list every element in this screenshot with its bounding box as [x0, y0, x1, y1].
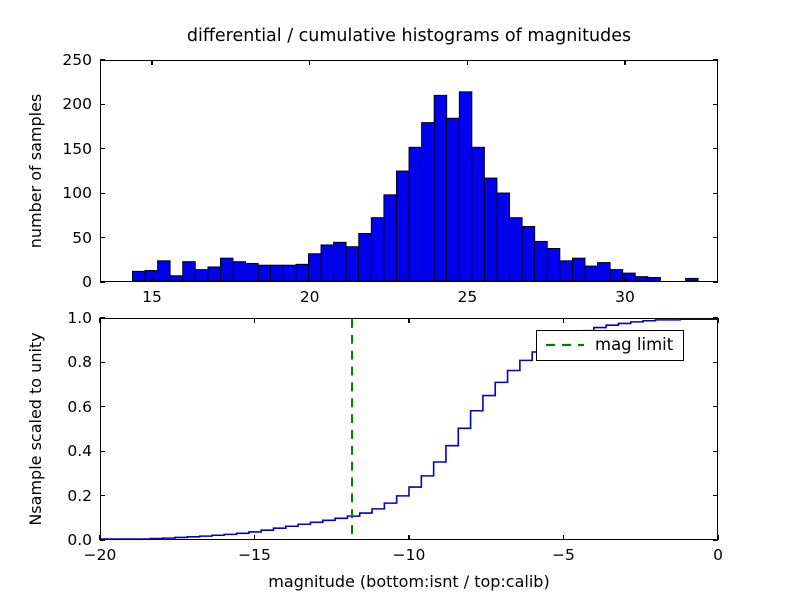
- y-tick-label: 150: [38, 140, 92, 158]
- y-tick-mark: [713, 104, 718, 105]
- histogram-bar: [447, 118, 460, 281]
- x-tick-label: 25: [457, 288, 477, 306]
- x-tick-mark: [151, 60, 152, 65]
- bottom-y-axis-label: Nsample scaled to unity: [26, 332, 45, 525]
- y-tick-label: 0.6: [38, 398, 92, 416]
- y-tick-label: 0.4: [38, 442, 92, 460]
- histogram-bar: [535, 241, 548, 281]
- y-tick-label: 0.0: [38, 531, 92, 549]
- histogram-bar: [434, 95, 447, 281]
- y-tick-mark: [100, 237, 105, 238]
- y-tick-mark: [100, 406, 105, 407]
- y-tick-mark: [713, 451, 718, 452]
- y-tick-mark: [100, 451, 105, 452]
- x-tick-label: −5: [552, 546, 575, 564]
- y-tick-label: 0.8: [38, 353, 92, 371]
- histogram-bar: [132, 271, 145, 281]
- histogram-bar: [648, 277, 661, 281]
- histogram-bar: [183, 262, 196, 281]
- histogram-bar: [283, 265, 296, 281]
- histogram-bar: [598, 263, 611, 281]
- y-tick-mark: [713, 317, 718, 318]
- y-tick-mark: [713, 237, 718, 238]
- y-tick-mark: [713, 59, 718, 60]
- y-tick-mark: [713, 281, 718, 282]
- histogram-bar: [308, 254, 321, 281]
- x-tick-mark: [467, 277, 468, 282]
- x-tick-label: −10: [393, 546, 426, 564]
- y-tick-mark: [713, 406, 718, 407]
- y-tick-mark: [713, 495, 718, 496]
- histogram-bar: [610, 270, 623, 281]
- y-tick-label: 0.2: [38, 487, 92, 505]
- y-tick-mark: [100, 59, 105, 60]
- y-tick-label: 200: [38, 95, 92, 113]
- y-tick-mark: [713, 148, 718, 149]
- x-tick-mark: [408, 318, 409, 323]
- histogram-bar: [220, 258, 233, 281]
- y-tick-label: 100: [38, 184, 92, 202]
- y-tick-mark: [100, 281, 105, 282]
- histogram-bar: [271, 265, 284, 281]
- histogram-bar: [497, 193, 510, 281]
- x-axis-label: magnitude (bottom:isnt / top:calib): [100, 572, 718, 591]
- histogram-bar: [296, 264, 309, 281]
- histogram-bar: [510, 218, 523, 281]
- histogram-bar: [547, 248, 560, 281]
- histogram-bar: [371, 218, 384, 281]
- histogram-bar: [195, 270, 208, 281]
- x-tick-mark: [408, 535, 409, 540]
- histogram-plot-area: [101, 61, 717, 281]
- y-tick-mark: [713, 193, 718, 194]
- mag-limit-line-icon: [545, 338, 585, 352]
- x-tick-label: −15: [238, 546, 271, 564]
- y-tick-mark: [100, 104, 105, 105]
- histogram-bar: [321, 245, 334, 281]
- y-tick-mark: [100, 193, 105, 194]
- x-tick-mark: [99, 318, 100, 323]
- y-tick-mark: [100, 495, 105, 496]
- x-tick-mark: [624, 60, 625, 65]
- legend-box: mag limit: [536, 330, 684, 361]
- x-tick-mark: [254, 318, 255, 323]
- x-tick-label: 15: [142, 288, 162, 306]
- y-tick-mark: [100, 148, 105, 149]
- histogram-bar: [208, 267, 221, 281]
- y-tick-label: 1.0: [38, 309, 92, 327]
- page-title: differential / cumulative histograms of …: [100, 26, 718, 46]
- histogram-bar: [635, 277, 648, 281]
- histogram-bar: [170, 276, 183, 281]
- y-tick-mark: [713, 362, 718, 363]
- x-tick-label: 20: [300, 288, 320, 306]
- x-tick-mark: [563, 535, 564, 540]
- x-tick-mark: [467, 60, 468, 65]
- histogram-bar: [409, 147, 422, 281]
- histogram-bar: [686, 278, 699, 281]
- histogram-bar: [484, 178, 497, 281]
- y-tick-label: 0: [38, 273, 92, 291]
- histogram-bar: [459, 92, 472, 281]
- x-tick-mark: [309, 277, 310, 282]
- y-tick-mark: [100, 362, 105, 363]
- top-y-axis-label: number of samples: [26, 94, 45, 249]
- histogram-bar: [560, 261, 573, 281]
- x-tick-mark: [151, 277, 152, 282]
- x-tick-label: 0: [713, 546, 723, 564]
- histogram-bar: [384, 195, 397, 281]
- y-tick-label: 250: [38, 51, 92, 69]
- figure-canvas: differential / cumulative histograms of …: [0, 0, 800, 600]
- top-histogram-axes: [100, 60, 718, 282]
- x-tick-mark: [717, 318, 718, 323]
- histogram-bar: [334, 242, 347, 281]
- x-tick-label: 30: [615, 288, 635, 306]
- histogram-bar: [585, 266, 598, 281]
- histogram-bar: [359, 233, 372, 281]
- histogram-bar: [233, 262, 246, 281]
- histogram-bar: [422, 123, 435, 281]
- histogram-bar: [258, 265, 271, 281]
- histogram-bar: [396, 171, 409, 281]
- y-tick-label: 50: [38, 229, 92, 247]
- y-tick-mark: [713, 539, 718, 540]
- histogram-bar: [572, 258, 585, 281]
- y-tick-mark: [100, 539, 105, 540]
- x-tick-mark: [254, 535, 255, 540]
- histogram-bar: [346, 247, 359, 281]
- y-tick-mark: [100, 317, 105, 318]
- x-tick-mark: [563, 318, 564, 323]
- legend-label-mag-limit: mag limit: [595, 337, 673, 354]
- histogram-bar: [472, 147, 485, 281]
- x-tick-mark: [309, 60, 310, 65]
- x-tick-mark: [624, 277, 625, 282]
- histogram-bar: [158, 261, 171, 281]
- histogram-bar: [246, 263, 259, 281]
- histogram-bar: [522, 226, 535, 281]
